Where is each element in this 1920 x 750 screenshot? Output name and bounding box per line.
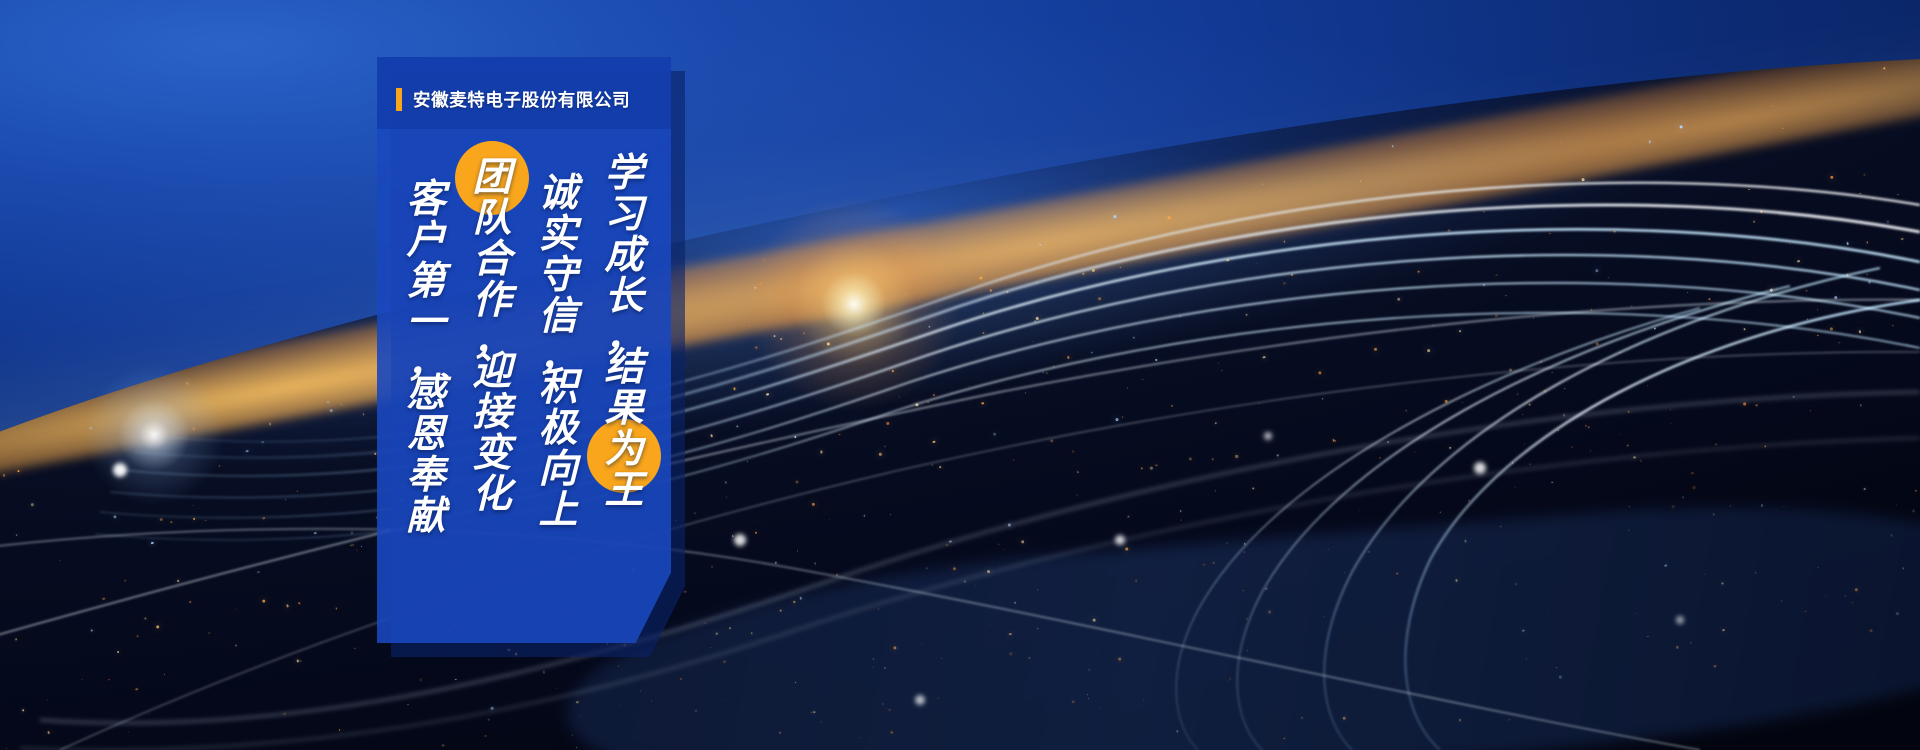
slogan-char: ， (538, 337, 577, 367)
slogan-char: 恩 (406, 414, 445, 455)
company-name: 安徽麦特电子股份有限公司 (413, 87, 630, 112)
slogan-char: 一 (406, 302, 445, 343)
slogan-char: 上 (538, 490, 577, 531)
slogan-column-teamwork: 团队合作，迎接变化 (459, 153, 525, 623)
slogan-char: 为 (604, 429, 643, 470)
slogan-char: 王 (604, 470, 643, 511)
slogan-char: 极 (538, 408, 577, 449)
slogan-char: 诚 (538, 173, 577, 214)
slogan-char: 守 (538, 255, 577, 296)
slogan-char: ， (472, 321, 511, 351)
slogan-column-honest: 诚实守信，积极向上 (525, 153, 591, 623)
slogan-column-customer: 客户第一，感恩奉献 (393, 153, 459, 623)
slogan-char: 结 (604, 347, 643, 388)
slogan-char: ， (406, 343, 445, 373)
banner-stage: 安徽麦特电子股份有限公司 学习成长，结果为王诚实守信，积极向上团队合作，迎接变化… (0, 0, 1920, 750)
slogan-char: 成 (604, 235, 643, 276)
slogan-char: ， (604, 317, 643, 347)
slogan-char: 长 (604, 276, 643, 317)
slogan-char: 合 (472, 239, 511, 280)
slogan-char: 积 (538, 367, 577, 408)
background-cityscape-image (0, 0, 1920, 750)
slogan-char: 作 (472, 280, 511, 321)
slogan-char: 感 (406, 373, 445, 414)
slogan-char: 献 (406, 496, 445, 537)
slogan-char: 化 (472, 474, 511, 515)
slogan-char: 迎 (472, 351, 511, 392)
brand-heading: 安徽麦特电子股份有限公司 (396, 87, 630, 112)
slogan-char: 团 (472, 157, 511, 198)
slogan-char: 变 (472, 433, 511, 474)
slogan-char: 户 (406, 220, 445, 261)
slogan-char: 奉 (406, 455, 445, 496)
slogan-char: 队 (472, 198, 511, 239)
company-values-panel: 安徽麦特电子股份有限公司 学习成长，结果为王诚实守信，积极向上团队合作，迎接变化… (377, 57, 671, 643)
slogan-char: 信 (538, 296, 577, 337)
slogan-columns: 学习成长，结果为王诚实守信，积极向上团队合作，迎接变化客户第一，感恩奉献 (377, 153, 671, 623)
accent-bar-icon (396, 88, 402, 111)
panel-body: 安徽麦特电子股份有限公司 学习成长，结果为王诚实守信，积极向上团队合作，迎接变化… (377, 57, 671, 643)
slogan-column-learning: 学习成长，结果为王 (591, 153, 657, 623)
slogan-char: 果 (604, 388, 643, 429)
slogan-char: 第 (406, 261, 445, 302)
slogan-char: 习 (604, 194, 643, 235)
slogan-char: 向 (538, 449, 577, 490)
slogan-char: 学 (604, 153, 643, 194)
slogan-char: 客 (406, 179, 445, 220)
slogan-char: 实 (538, 214, 577, 255)
slogan-char: 接 (472, 392, 511, 433)
